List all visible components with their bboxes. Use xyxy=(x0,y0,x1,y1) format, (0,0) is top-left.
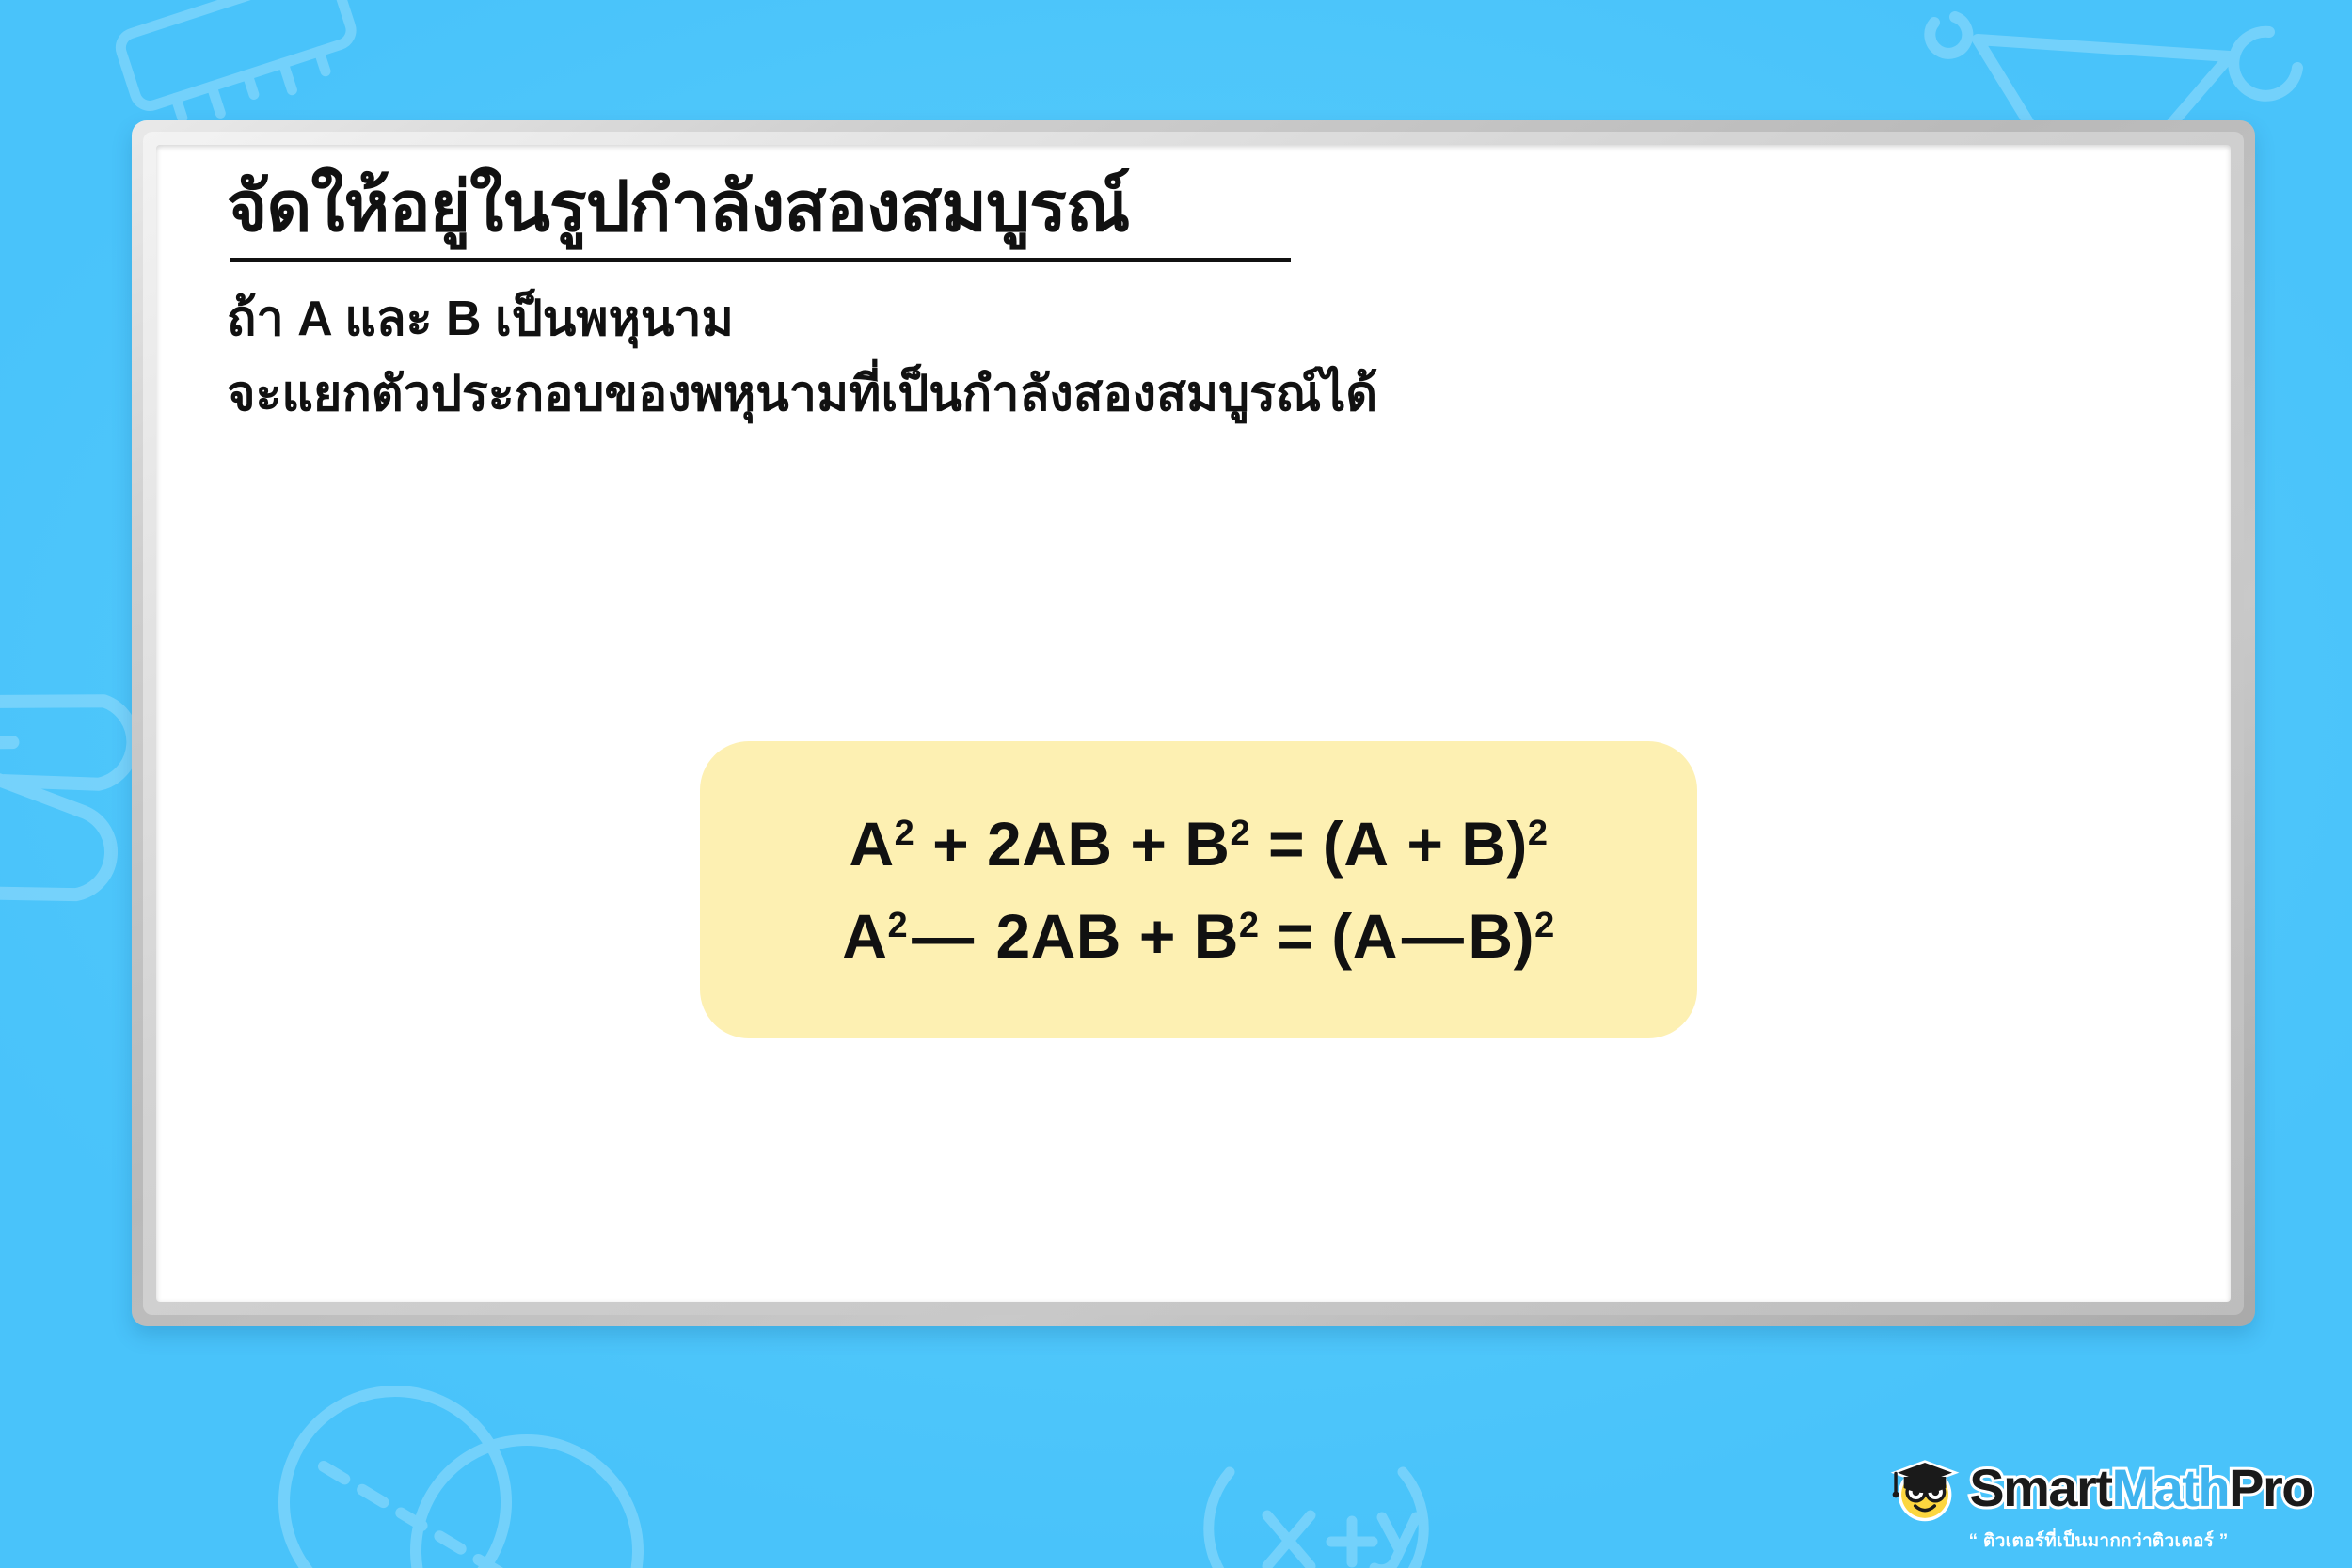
formula-group-close: B) xyxy=(1468,900,1534,972)
page-title: จัดให้อยู่ในรูปกำลังสองสมบูรณ์ xyxy=(227,164,1129,251)
formula-row: A2 + 2AB + B2 = (A + B)2 xyxy=(849,808,1548,879)
body-text-line-1: ถ้า A และ B เป็นพหุนาม xyxy=(227,288,734,352)
logo-main-row: SmartMathPro xyxy=(1884,1448,2312,1528)
formula-equals: = xyxy=(1268,808,1305,879)
formula-equals: = xyxy=(1277,900,1313,972)
logo-wordmark: SmartMathPro xyxy=(1969,1462,2312,1514)
formula-base-a: A xyxy=(849,808,894,879)
title-underline xyxy=(230,258,1291,262)
expression-xy-icon xyxy=(1181,1451,1463,1568)
formula-base-a: A xyxy=(842,900,887,972)
brand-logo: SmartMathPro “ ติวเตอร์ที่เป็นมากกว่าติว… xyxy=(1884,1448,2312,1555)
logo-word-smart: Smart xyxy=(1969,1458,2111,1517)
logo-tagline: “ ติวเตอร์ที่เป็นมากกว่าติวเตอร์ ” xyxy=(1969,1527,2229,1555)
formula-card: A2 + 2AB + B2 = (A + B)2 A2 — 2AB + B2 xyxy=(700,741,1697,1038)
formula-row: A2 — 2AB + B2 = (A — B)2 xyxy=(842,900,1554,972)
formula-middle-term: 2AB xyxy=(995,900,1121,972)
formula-base-b: B xyxy=(1184,808,1230,879)
formula-operator-2: + xyxy=(1130,808,1167,879)
body-text-line-2: จะแยกตัวประกอบของพหุนามที่เป็นกำลังสองสม… xyxy=(227,363,1377,427)
formula-operator-1: + xyxy=(932,808,969,879)
venn-diagram-icon xyxy=(254,1380,649,1568)
formula-base-b: B xyxy=(1194,900,1239,972)
logo-word-pro: Pro xyxy=(2229,1458,2312,1517)
formula-group-open: (A xyxy=(1331,900,1398,972)
whiteboard-surface: จัดให้อยู่ในรูปกำลังสองสมบูรณ์ ถ้า A และ… xyxy=(156,145,2231,1302)
formula-operator-2: + xyxy=(1139,900,1176,972)
formula-middle-term: 2AB xyxy=(987,808,1113,879)
whiteboard-frame: จัดให้อยู่ในรูปกำลังสองสมบูรณ์ ถ้า A และ… xyxy=(132,120,2255,1326)
graduate-smiley-icon xyxy=(1884,1448,1965,1528)
formula-group-close: B) xyxy=(1461,808,1528,879)
formula-group-operator: — xyxy=(1398,900,1469,972)
formula-operator-1: — xyxy=(908,900,978,972)
formula-group-operator: + xyxy=(1406,808,1443,879)
slide-canvas: จัดให้อยู่ในรูปกำลังสองสมบูรณ์ ถ้า A และ… xyxy=(0,0,2352,1568)
formula-group-open: (A xyxy=(1323,808,1390,879)
logo-word-math: Math xyxy=(2111,1458,2229,1517)
